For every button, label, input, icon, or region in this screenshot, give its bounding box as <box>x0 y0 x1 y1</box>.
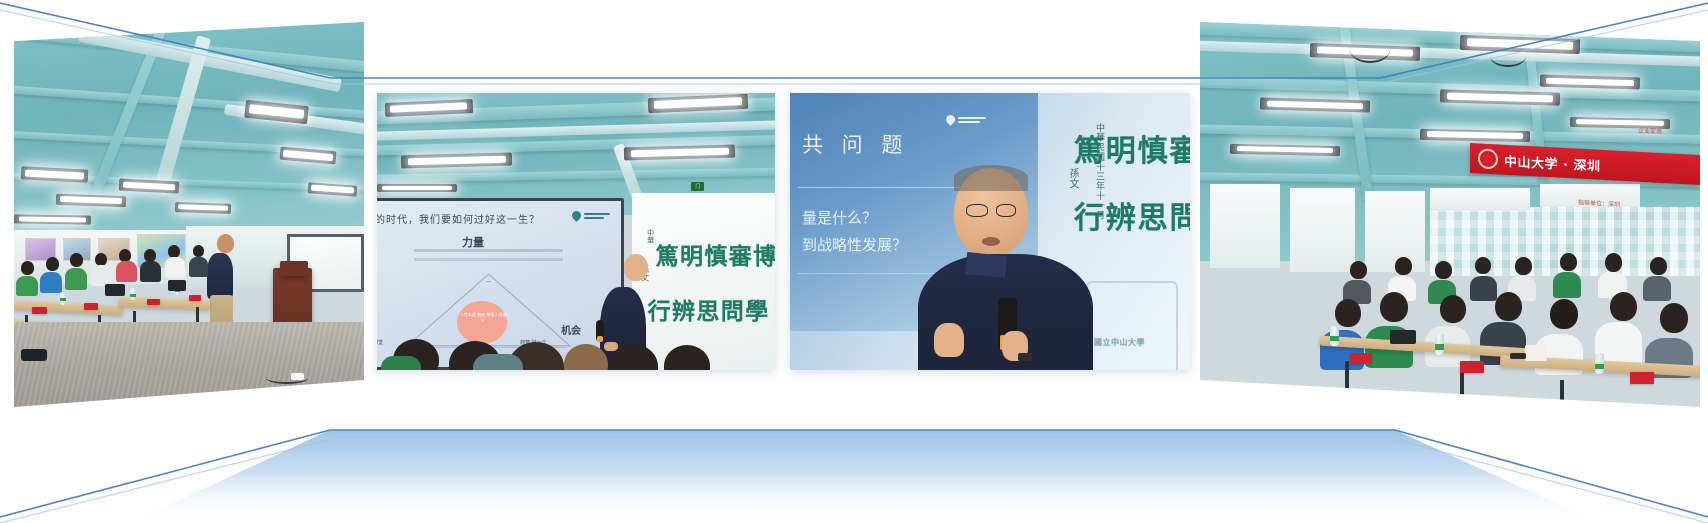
arch-watermark <box>1086 281 1178 370</box>
slide-label-left-bottom: 诚意 课堂 <box>377 339 383 346</box>
namecard <box>1350 353 1372 364</box>
panel-slide-presentation-view[interactable]: 门 化的时代，我们要如何过好这一生？ 力量 — 人性本质 <box>377 93 775 370</box>
speaker-hair <box>954 165 1028 191</box>
university-seal-icon <box>1478 148 1498 169</box>
instructor-head <box>217 234 234 253</box>
audience-head <box>1440 295 1466 323</box>
slide-headline: 化的时代，我们要如何过好这一生？ <box>377 211 540 226</box>
water-bottle <box>1330 326 1339 346</box>
calligraphy-line-2: 行辨思問學 <box>1074 193 1190 237</box>
laptop <box>105 284 125 296</box>
calligraphy-line-1: 篤明慎審博 <box>656 237 775 271</box>
calligraphy-signature: 孫文 <box>1065 168 1080 190</box>
panel-speaker-closeup-view[interactable]: 共 问 题 量是什么？ 到战略性发展？ 中華民國十三年十一月 孫文 篤明慎審博 … <box>790 93 1190 370</box>
photo-audience: 中山大学 · 深圳 企业家培 指导单位：深圳 <box>1200 22 1700 407</box>
calligraphy-line-2: 行辨思問學 <box>648 292 770 326</box>
speaker-collar <box>965 252 1007 278</box>
window-blind <box>1210 184 1280 269</box>
gallery-banner: 门 化的时代，我们要如何过好这一生？ 力量 — 人性本质 <box>0 0 1708 523</box>
shield-icon <box>944 113 957 126</box>
slide-logo <box>572 211 610 220</box>
glasses-icon <box>996 204 1016 217</box>
glasses-icon <box>966 204 988 217</box>
window-blind <box>1290 188 1355 273</box>
slide-label-right: 机会 <box>561 322 581 337</box>
water-bottle <box>1435 334 1444 355</box>
instructor-body <box>207 253 233 299</box>
laptop <box>1390 330 1416 344</box>
banner-sub-bottom: 指导单位：深圳 <box>1578 197 1620 208</box>
logo-wordmark <box>958 117 986 123</box>
logo-wordmark <box>584 213 610 219</box>
microphone <box>596 320 604 342</box>
exit-sign: 门 <box>691 182 704 191</box>
photo-slide-presentation: 门 化的时代，我们要如何过好这一生？ 力量 — 人性本质 <box>377 93 775 370</box>
wristwatch <box>1018 353 1032 361</box>
speaker-mouth <box>982 237 1000 246</box>
window-blind <box>1365 191 1425 272</box>
slide-line-1: 量是什么？ <box>802 207 877 228</box>
calligraphy-vertical-left: 中華 <box>646 229 656 244</box>
panel-classroom-wide-view[interactable] <box>14 22 364 407</box>
water-bottle <box>1595 353 1604 374</box>
slide-line-2: 到战略性发展？ <box>802 234 907 255</box>
desk-row <box>14 300 123 315</box>
audience-head <box>1550 299 1578 329</box>
audience-head <box>1335 299 1361 327</box>
namecard <box>1460 361 1484 373</box>
audience-head <box>1660 303 1688 333</box>
photo-classroom-wide <box>14 22 364 407</box>
audience-head <box>1610 292 1637 321</box>
slide-label-center: 人性本质·普遍 移懂人间烟火 <box>458 312 508 322</box>
shield-icon <box>570 209 583 222</box>
banner-title: 中山大学 · 深圳 <box>1504 150 1601 174</box>
slide-logo <box>946 115 986 124</box>
arch-caption: 國立中山大學 <box>1094 337 1145 348</box>
speaker-hand <box>934 323 964 357</box>
panel-audience-view[interactable]: 中山大学 · 深圳 企业家培 指导单位：深圳 <box>1200 22 1700 407</box>
calligraphy-line-1: 篤明慎審博 <box>1074 126 1190 170</box>
presenter-head <box>624 254 648 281</box>
namecard <box>1630 372 1654 384</box>
banner-sub-top: 企业家培 <box>1638 125 1662 135</box>
whiteboard-calligraphy <box>632 193 775 370</box>
audience-head <box>1380 292 1408 322</box>
photo-speaker-closeup: 共 问 题 量是什么？ 到战略性发展？ 中華民國十三年十一月 孫文 篤明慎審博 … <box>790 93 1190 370</box>
audience-head <box>1495 292 1522 321</box>
slide-label-top: 力量 <box>462 234 484 250</box>
slide-heading: 共 问 题 <box>802 129 908 159</box>
